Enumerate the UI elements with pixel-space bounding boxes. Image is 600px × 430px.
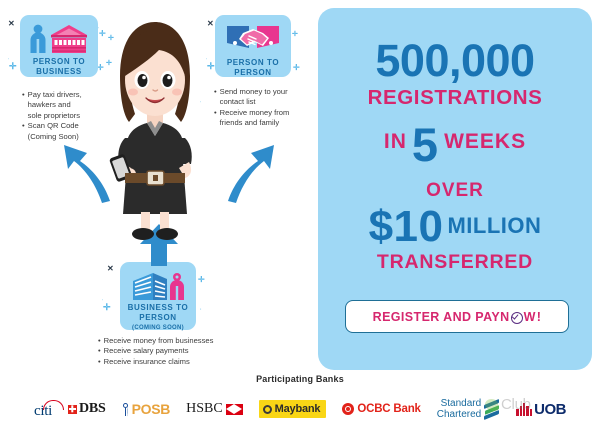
citi-arc-icon xyxy=(43,400,64,410)
bullet-item: • Send money to your contact list xyxy=(214,87,314,108)
stat-amount-row: $10 MILLION xyxy=(318,204,592,248)
hsbc-label: HSBC xyxy=(186,401,223,417)
bullet-item: • Receive money from businesses xyxy=(98,336,268,346)
card-business-to-person[interactable]: BUSINESS TO PERSON (COMING SOON) xyxy=(120,262,196,330)
uob-label: UOB xyxy=(534,401,566,418)
sparkle-plus-icon: ✛ xyxy=(293,64,300,72)
stat-weeks-label: WEEKS xyxy=(444,131,526,152)
sc-label-line2: Chartered xyxy=(437,409,481,420)
participating-banks-heading: Participating Banks xyxy=(0,374,600,384)
cta-label: REGISTER AND PAYNW! xyxy=(373,310,542,324)
sparkle-plus-icon: ✛ xyxy=(198,276,205,284)
bullet-line: contact list xyxy=(220,97,256,106)
bank-logo-standard-chartered: Standard Chartered xyxy=(437,398,500,420)
infographic-canvas: ✕ · ✛ · ✛ ✛ ✛ ✛ ✕ · ✛ ✛ ✛ · ✕ · ✛ ✛ · xyxy=(0,0,600,430)
bank-logo-hsbc: HSBC xyxy=(186,401,243,417)
stat-transferred-word: TRANSFERRED xyxy=(318,253,592,273)
woman-with-phone-illustration xyxy=(103,18,207,240)
posb-key-icon xyxy=(122,403,130,416)
bank-logo-dbs: DBS xyxy=(68,401,106,417)
maybank-label: Maybank xyxy=(275,403,321,415)
bullet-marker: • xyxy=(22,90,25,121)
bullet-line: Receive money from xyxy=(220,108,290,117)
arrow-to-person-to-person-icon xyxy=(218,135,278,205)
bullet-marker: • xyxy=(214,108,217,129)
bank-logo-ocbc: OCBC Bank xyxy=(342,403,420,415)
bullet-line: Pay taxi drivers, xyxy=(28,90,82,99)
person-and-store-icon xyxy=(27,22,91,55)
bullet-marker: • xyxy=(98,336,101,346)
bullet-marker: • xyxy=(98,346,101,356)
bullet-line: Send money to your xyxy=(220,87,288,96)
card-title: PERSON TO BUSINESS xyxy=(33,57,85,77)
cta-exclaim: ! xyxy=(537,310,542,324)
sparkle-x-icon: ✕ xyxy=(107,265,114,273)
cta-text-before: REGISTER AND PAYN xyxy=(373,310,510,324)
stat-weeks-row: IN 5 WEEKS xyxy=(318,118,592,165)
stat-weeks-number: 5 xyxy=(412,121,439,168)
stat-in-word: IN xyxy=(384,131,407,152)
citi-logo: citi xyxy=(34,399,52,420)
bullets-person-to-person: • Send money to your contact list • Rece… xyxy=(214,87,314,129)
handshake-icon xyxy=(225,22,281,56)
card-subtitle: (COMING SOON) xyxy=(132,325,184,331)
bullet-marker: • xyxy=(214,87,217,108)
ocbc-circle-icon xyxy=(342,403,354,415)
bullet-marker: • xyxy=(98,357,101,367)
sparkle-x-icon: ✕ xyxy=(207,20,214,28)
bullet-item: • Receive salary payments xyxy=(98,346,268,356)
ocbc-label: OCBC Bank xyxy=(357,403,420,415)
sparkle-plus-icon: ✛ xyxy=(207,62,215,71)
stat-registrations-label: REGISTRATIONS xyxy=(318,88,592,109)
stat-million-word: MILLION xyxy=(447,215,541,237)
sparkle-plus-icon: ✛ xyxy=(292,31,298,38)
bullet-line: sole proprietors xyxy=(28,111,80,120)
stat-registrations-count: 500,000 xyxy=(318,38,592,83)
bullet-item: • Receive money from friends and family xyxy=(214,108,314,129)
card-person-to-person[interactable]: PERSON TO PERSON xyxy=(215,15,291,77)
card-title-line2: PERSON xyxy=(234,68,271,77)
bullet-text: Receive insurance claims xyxy=(104,357,268,367)
stat-amount: $10 xyxy=(369,205,444,249)
card-title-line1: BUSINESS TO xyxy=(128,303,189,312)
card-title-line1: PERSON TO xyxy=(227,58,279,67)
dbs-label: DBS xyxy=(79,401,106,417)
card-title: PERSON TO PERSON xyxy=(227,58,279,78)
sparkle-dot-icon: · xyxy=(200,308,202,313)
dbs-mark-icon xyxy=(68,405,77,414)
card-title: BUSINESS TO PERSON xyxy=(128,303,189,323)
bullet-line: Scan QR Code xyxy=(28,121,79,130)
standard-chartered-bars-icon xyxy=(484,400,500,418)
bullet-marker: • xyxy=(22,121,25,142)
register-and-paynow-button[interactable]: REGISTER AND PAYNW! xyxy=(345,300,569,333)
maybank-logo: Maybank xyxy=(259,400,327,418)
bullet-line: hawkers and xyxy=(28,100,71,109)
card-title-line1: PERSON TO xyxy=(33,57,85,66)
uob-bars-icon xyxy=(516,403,532,416)
bank-logo-citi: citi xyxy=(34,399,52,420)
bullet-text: Send money to your contact list xyxy=(220,87,314,108)
standard-chartered-label: Standard Chartered xyxy=(437,398,481,420)
maybank-tiger-icon xyxy=(263,405,272,414)
sparkle-plus-icon: ✛ xyxy=(103,303,111,312)
paynow-check-circle-icon xyxy=(511,312,523,324)
participating-banks-row: citi DBS POSB HSBC Maybank OCBC Bank xyxy=(0,392,600,426)
hsbc-hexagon-icon xyxy=(226,404,243,415)
bullet-line: friends and family xyxy=(220,118,280,127)
card-title-line2: PERSON xyxy=(139,313,176,322)
cta-text-after: W xyxy=(524,310,536,324)
card-person-to-business[interactable]: PERSON TO BUSINESS xyxy=(20,15,98,77)
sparkle-x-icon: ✕ xyxy=(8,20,15,28)
office-building-and-person-icon xyxy=(129,269,187,301)
bullets-business-to-person: • Receive money from businesses • Receiv… xyxy=(98,336,268,367)
bullet-text: Receive money from friends and family xyxy=(220,108,314,129)
bank-logo-posb: POSB xyxy=(122,401,170,417)
sparkle-plus-icon: ✛ xyxy=(9,62,17,71)
card-title-line2: BUSINESS xyxy=(36,67,82,76)
sc-label-line1: Standard xyxy=(441,398,482,409)
posb-label: POSB xyxy=(132,401,170,417)
bullet-item: • Receive insurance claims xyxy=(98,357,268,367)
bullet-text: Receive money from businesses xyxy=(104,336,268,346)
bullet-text: Receive salary payments xyxy=(104,346,268,356)
stat-over-word: OVER xyxy=(318,181,592,200)
bank-logo-maybank: Maybank xyxy=(259,400,327,418)
bank-logo-uob: UOB xyxy=(516,401,566,418)
